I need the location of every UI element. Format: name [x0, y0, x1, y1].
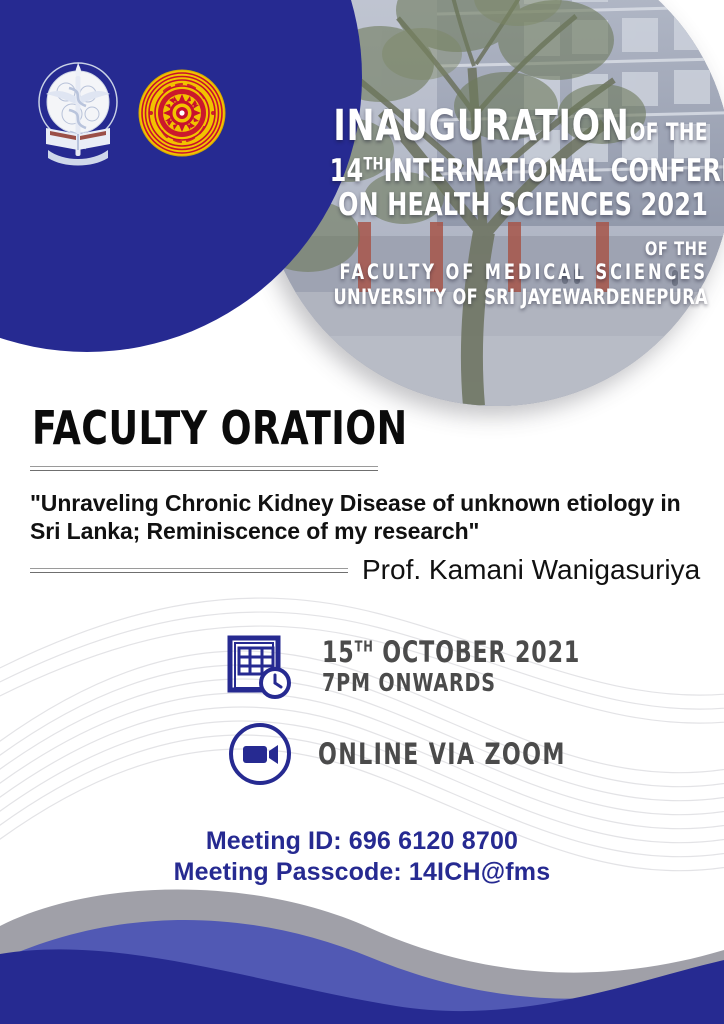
title-conference: INTERNATIONAL CONFERENCE — [384, 153, 724, 189]
university-of-sri-jayewardenepura-seal-icon — [138, 69, 226, 157]
meeting-id-label: Meeting ID: — [206, 827, 342, 855]
header-subtitle-block: OF THE FACULTY OF MEDICAL SCIENCES UNIVE… — [268, 239, 708, 310]
meeting-id-value: 696 6120 8700 — [349, 827, 518, 855]
event-date-ordinal: TH — [355, 637, 374, 655]
speaker-divider — [30, 568, 348, 573]
date-time-text: 15TH OCTOBER 2021 7PM ONWARDS — [322, 637, 580, 697]
title-ordinal-suffix: TH — [363, 155, 383, 175]
meeting-passcode-value: 14ICH@fms — [409, 858, 551, 886]
title-ordinal-number: 14 — [330, 153, 364, 189]
event-date-day: 15 — [322, 635, 355, 669]
title-line-3: ON HEALTH SCIENCES 2021 — [330, 188, 708, 222]
title-line-2: 14THINTERNATIONAL CONFERENCE — [330, 154, 708, 188]
speaker-row: Prof. Kamani Wanigasuriya — [0, 555, 724, 585]
oration-topic: "Unraveling Chronic Kidney Disease of un… — [30, 489, 706, 545]
subtitle-faculty: FACULTY OF MEDICAL SCIENCES — [330, 260, 708, 285]
event-time: 7PM ONWARDS — [322, 668, 580, 697]
subtitle-of-the: OF THE — [330, 239, 708, 260]
calendar-clock-icon — [222, 630, 296, 704]
date-time-row: 15TH OCTOBER 2021 7PM ONWARDS — [0, 630, 724, 704]
event-mode: ONLINE VIA ZOOM — [318, 739, 566, 770]
title-of-the: OF THE — [630, 118, 708, 146]
oration-heading: FACULTY ORATION — [32, 404, 641, 452]
heading-divider — [30, 466, 378, 471]
logo-group — [36, 58, 226, 168]
meeting-passcode-label: Meeting Passcode: — [174, 858, 402, 886]
event-date: 15TH OCTOBER 2021 — [322, 637, 580, 668]
mode-row: ONLINE VIA ZOOM — [0, 722, 724, 786]
subtitle-university: UNIVERSITY OF SRI JAYEWARDENEPURA — [330, 285, 708, 310]
event-details: 15TH OCTOBER 2021 7PM ONWARDS ONLINE VIA… — [0, 630, 724, 786]
event-date-rest: OCTOBER 2021 — [382, 635, 580, 669]
meeting-passcode-line: Meeting Passcode: 14ICH@fms — [0, 857, 724, 888]
meeting-id-line: Meeting ID: 696 6120 8700 — [0, 826, 724, 857]
conference-poster: INAUGURATIONOF THE 14THINTERNATIONAL CON… — [0, 0, 724, 1024]
title-inauguration: INAUGURATION — [333, 101, 629, 151]
speaker-name: Prof. Kamani Wanigasuriya — [362, 555, 700, 585]
header-title-block: INAUGURATIONOF THE 14THINTERNATIONAL CON… — [268, 104, 708, 310]
bottom-wave-decoration — [0, 864, 724, 1024]
oration-section: FACULTY ORATION "Unraveling Chronic Kidn… — [0, 404, 724, 585]
faculty-of-medical-sciences-crest-icon — [36, 58, 120, 168]
meeting-info: Meeting ID: 696 6120 8700 Meeting Passco… — [0, 826, 724, 888]
video-camera-icon — [228, 722, 292, 786]
title-line-1: INAUGURATIONOF THE — [330, 104, 708, 154]
